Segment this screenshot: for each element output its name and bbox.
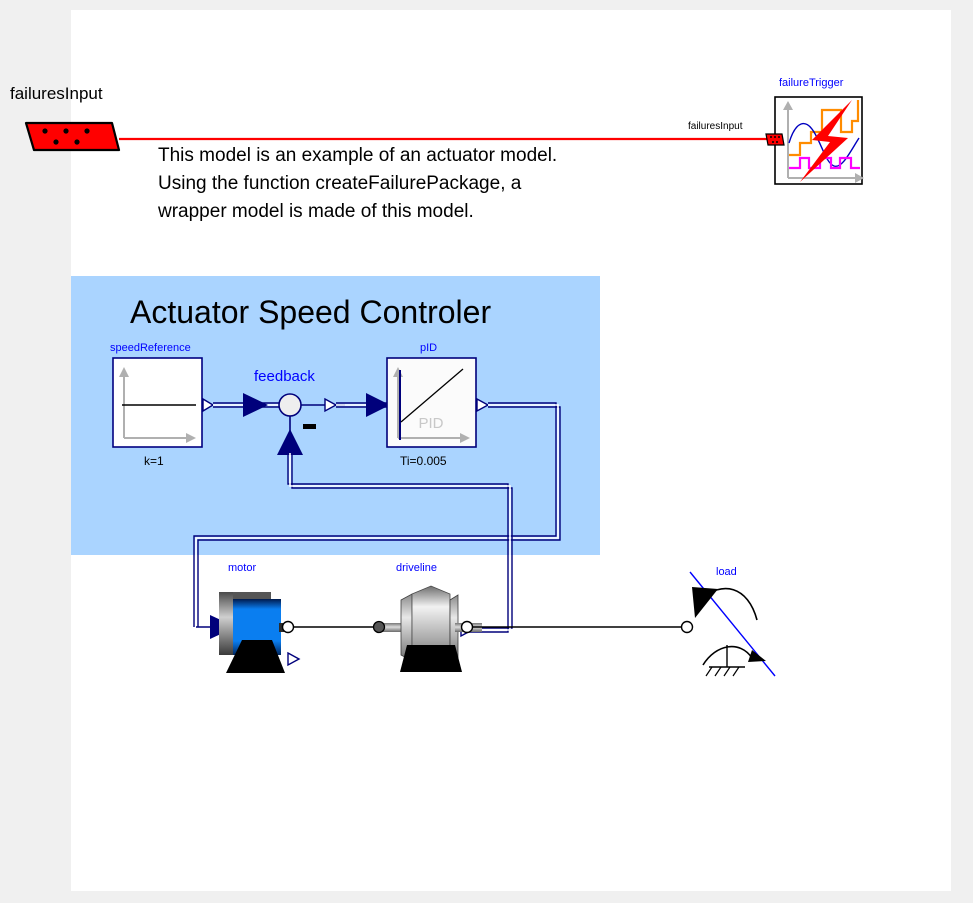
driveline-label: driveline [396, 562, 437, 574]
failures-input-port-label: failuresInput [688, 121, 742, 132]
annotation-line-1: This model is an example of an actuator … [158, 145, 557, 167]
annotation-line-2: Using the function createFailurePackage,… [158, 173, 521, 195]
speed-reference-param: k=1 [144, 454, 164, 468]
annotation-line-3: wrapper model is made of this model. [158, 201, 474, 223]
pid-label: pID [420, 342, 437, 354]
failure-trigger-label: failureTrigger [779, 77, 843, 89]
panel-title: Actuator Speed Controler [130, 294, 491, 331]
load-label: load [716, 566, 737, 578]
speed-reference-label: speedReference [110, 342, 191, 354]
pid-param: Ti=0.005 [400, 454, 447, 468]
motor-label: motor [228, 562, 256, 574]
feedback-label: feedback [254, 368, 315, 385]
failures-input-label: failuresInput [10, 84, 103, 104]
